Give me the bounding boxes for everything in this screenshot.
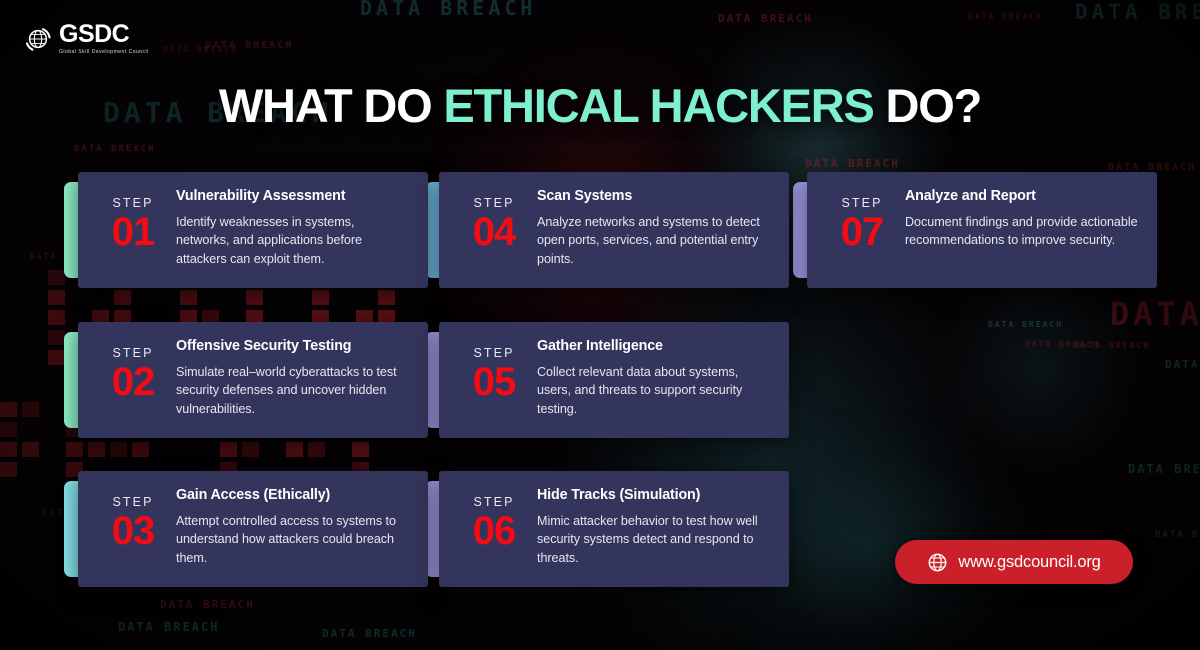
infographic-poster: DATA BREACHDATA BREACHDATA BREACHDATA BR… — [0, 0, 1200, 650]
step-card-01[interactable]: STEP01Vulnerability AssessmentIdentify w… — [64, 172, 428, 288]
step-number-column: STEP07 — [823, 188, 901, 272]
step-card-05[interactable]: STEP05Gather IntelligenceCollect relevan… — [425, 322, 789, 438]
step-number-column: STEP02 — [94, 338, 172, 422]
step-card-07[interactable]: STEP07Analyze and ReportDocument finding… — [793, 172, 1157, 288]
website-url: www.gsdcouncil.org — [958, 553, 1100, 572]
step-label: STEP — [455, 196, 533, 210]
globe-icon — [927, 552, 948, 573]
step-number-column: STEP04 — [455, 188, 533, 272]
step-label: STEP — [94, 495, 172, 509]
step-number: 04 — [455, 212, 533, 252]
step-text-column: Vulnerability AssessmentIdentify weaknes… — [172, 188, 410, 272]
step-card-06[interactable]: STEP06Hide Tracks (Simulation)Mimic atta… — [425, 471, 789, 587]
step-label: STEP — [823, 196, 901, 210]
step-text-column: Analyze and ReportDocument findings and … — [901, 188, 1139, 272]
step-number: 07 — [823, 212, 901, 252]
step-card-04[interactable]: STEP04Scan SystemsAnalyze networks and s… — [425, 172, 789, 288]
step-label: STEP — [94, 196, 172, 210]
step-title: Hide Tracks (Simulation) — [537, 487, 771, 503]
step-description: Document findings and provide actionable… — [905, 213, 1139, 250]
step-number-column: STEP06 — [455, 487, 533, 571]
step-card-body: STEP03Gain Access (Ethically)Attempt con… — [78, 471, 428, 587]
step-text-column: Scan SystemsAnalyze networks and systems… — [533, 188, 771, 272]
step-number-column: STEP05 — [455, 338, 533, 422]
step-description: Mimic attacker behavior to test how well… — [537, 512, 771, 567]
step-text-column: Offensive Security TestingSimulate real–… — [172, 338, 410, 422]
step-card-body: STEP01Vulnerability AssessmentIdentify w… — [78, 172, 428, 288]
step-text-column: Gather IntelligenceCollect relevant data… — [533, 338, 771, 422]
website-badge[interactable]: www.gsdcouncil.org — [895, 540, 1133, 584]
step-number: 02 — [94, 362, 172, 402]
step-description: Identify weaknesses in systems, networks… — [176, 213, 410, 268]
step-title: Offensive Security Testing — [176, 338, 410, 354]
step-card-body: STEP06Hide Tracks (Simulation)Mimic atta… — [439, 471, 789, 587]
step-title: Analyze and Report — [905, 188, 1139, 204]
step-title: Gain Access (Ethically) — [176, 487, 410, 503]
step-card-body: STEP02Offensive Security TestingSimulate… — [78, 322, 428, 438]
step-number-column: STEP01 — [94, 188, 172, 272]
step-number: 01 — [94, 212, 172, 252]
step-description: Simulate real–world cyberattacks to test… — [176, 363, 410, 418]
step-label: STEP — [455, 495, 533, 509]
step-card-03[interactable]: STEP03Gain Access (Ethically)Attempt con… — [64, 471, 428, 587]
step-number: 05 — [455, 362, 533, 402]
step-number: 03 — [94, 511, 172, 551]
step-label: STEP — [455, 346, 533, 360]
step-label: STEP — [94, 346, 172, 360]
step-number-column: STEP03 — [94, 487, 172, 571]
step-description: Collect relevant data about systems, use… — [537, 363, 771, 418]
step-card-02[interactable]: STEP02Offensive Security TestingSimulate… — [64, 322, 428, 438]
step-card-body: STEP04Scan SystemsAnalyze networks and s… — [439, 172, 789, 288]
step-number: 06 — [455, 511, 533, 551]
step-description: Attempt controlled access to systems to … — [176, 512, 410, 567]
step-card-body: STEP05Gather IntelligenceCollect relevan… — [439, 322, 789, 438]
step-description: Analyze networks and systems to detect o… — [537, 213, 771, 268]
step-title: Scan Systems — [537, 188, 771, 204]
step-text-column: Hide Tracks (Simulation)Mimic attacker b… — [533, 487, 771, 571]
step-card-body: STEP07Analyze and ReportDocument finding… — [807, 172, 1157, 288]
step-text-column: Gain Access (Ethically)Attempt controlle… — [172, 487, 410, 571]
step-title: Vulnerability Assessment — [176, 188, 410, 204]
step-title: Gather Intelligence — [537, 338, 771, 354]
